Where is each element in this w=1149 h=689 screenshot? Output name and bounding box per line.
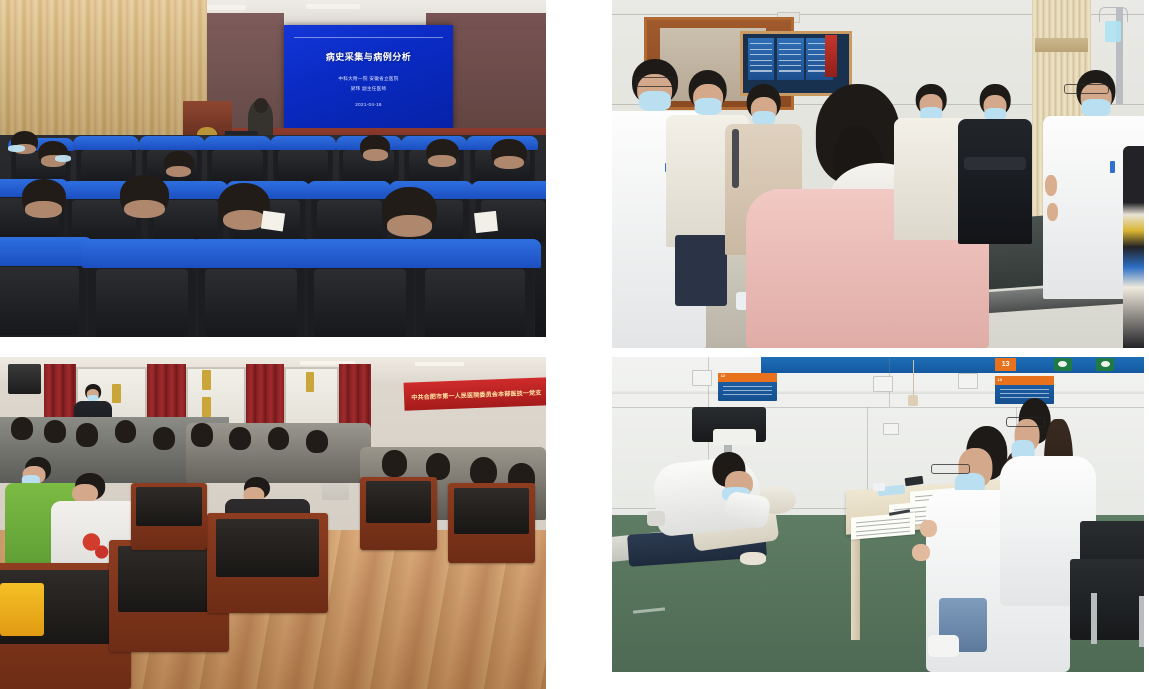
photo-ward-teaching[interactable]: [612, 0, 1144, 348]
attendee-head: [426, 139, 459, 165]
attendee-head: [268, 427, 290, 450]
attendee-head: [191, 423, 213, 446]
banner-text: 中共合肥市第一人民医院委员会本部医技一党支: [411, 387, 541, 401]
attendee-head: [22, 179, 66, 215]
auditorium-scene: 中共合肥市第一人民医院委员会本部医技一党支: [0, 357, 546, 689]
red-banner[interactable]: 中共合肥市第一人民医院委员会本部医技一党支: [404, 377, 546, 411]
photo-collage-sheet: 病史采集与病例分析 中科大附一院 安徽省立医院 梁玮 副主任医师 2021-04…: [0, 0, 1149, 689]
bed-head-sign: 12: [718, 373, 777, 401]
manikin-hand: [740, 552, 767, 565]
attendee-head: [153, 427, 175, 450]
slide-subtitle-institution: 中科大附一院 安徽省立医院: [284, 76, 453, 82]
wooden-desk-chair: [360, 477, 436, 550]
attendee-mask: [55, 155, 71, 162]
auditorium-seat: [76, 139, 136, 186]
dark-trousers: [675, 235, 727, 306]
red-notice-strip: [825, 35, 837, 77]
slide-rule-line: [294, 37, 443, 38]
folded-arms: [964, 157, 1025, 170]
staff-badge: [1110, 161, 1115, 173]
sign-number: 12: [721, 373, 725, 378]
attendee-paper: [474, 211, 498, 233]
eyeglasses-icon: [636, 77, 675, 87]
attendee-head: [115, 420, 137, 443]
attendee-head: [229, 427, 251, 450]
audience-area: [0, 135, 546, 337]
resuscitation-supplies: [713, 429, 756, 445]
eyeglasses-icon: [1006, 417, 1045, 427]
attendee-head: [470, 457, 497, 487]
attendee-head: [382, 187, 437, 234]
lecture-hall-scene: 病史采集与病例分析 中科大附一院 安徽省立医院 梁玮 副主任医师 2021-04…: [0, 0, 546, 337]
backpack-strap: [732, 129, 739, 188]
attendee-head: [44, 420, 66, 443]
window-latch: [112, 384, 121, 404]
slide-title: 病史采集与病例分析: [284, 50, 453, 63]
bay-number-13: 13: [995, 358, 1016, 372]
person-rescuer-performing-cpr: [655, 452, 783, 540]
information-board: [777, 38, 804, 80]
sign-number: 13: [997, 377, 1001, 382]
attendee-head: [306, 430, 328, 453]
auditorium-seat: [306, 246, 415, 337]
auditorium-seat: [0, 244, 87, 337]
chair-leg: [1139, 596, 1144, 646]
light-switch[interactable]: [873, 376, 893, 392]
slide-subtitle-presenter: 梁玮 副主任医师: [284, 86, 453, 92]
attendee-head: [426, 453, 451, 480]
rescuer-shoe: [647, 511, 665, 525]
window-latch: [202, 370, 211, 390]
attendee-head: [120, 175, 169, 215]
cord-pull-handle: [908, 395, 919, 406]
wooden-desk-chair: [131, 483, 207, 549]
ward-scene: [612, 0, 1144, 348]
writing-hand: [920, 520, 937, 537]
wooden-desk-chair: [448, 483, 535, 563]
hanging-cord: [913, 360, 914, 398]
wall-speaker: [8, 364, 41, 394]
waiting-chair: [1070, 559, 1144, 641]
eyeglasses-icon: [931, 464, 970, 474]
water-cup: [873, 483, 886, 491]
yellow-bag: [0, 583, 44, 636]
attendee-head: [360, 135, 390, 159]
gesturing-hand: [1047, 203, 1058, 221]
projector-screen: 病史采集与病例分析 中科大附一院 安徽省立医院 梁玮 副主任医师 2021-04…: [284, 25, 453, 129]
chair-leg: [1091, 593, 1097, 643]
wall-outlet-icon: [1054, 358, 1072, 371]
window-latch: [306, 372, 315, 392]
wall-panel-outlet[interactable]: [883, 423, 899, 435]
window-latch: [202, 397, 211, 417]
person-black-jacket: [963, 84, 1027, 244]
cpr-room-scene: 13 12 13: [612, 357, 1144, 672]
ceiling-light: [306, 4, 361, 9]
light-switch[interactable]: [958, 373, 978, 389]
attendee-head: [164, 151, 194, 175]
auditorium-seat: [87, 246, 196, 337]
person-pale-coat: [899, 84, 963, 241]
ceiling-light: [415, 362, 464, 366]
person-striped-sweater-partial: [1123, 146, 1144, 348]
attendee-head: [11, 417, 33, 440]
sneaker: [928, 635, 958, 657]
iv-hook: [1099, 7, 1128, 22]
curtain-tie-band: [1035, 38, 1088, 52]
information-board: [748, 38, 775, 80]
attendee-head: [491, 139, 526, 167]
auditorium-seat: [415, 246, 535, 337]
photo-lecture-hall[interactable]: 病史采集与病例分析 中科大附一院 安徽省立医院 梁玮 副主任医师 2021-04…: [0, 0, 546, 337]
wooden-desk-chair: [207, 513, 327, 613]
auditorium-seat: [207, 139, 267, 186]
attendee-paper: [261, 210, 285, 231]
light-switch[interactable]: [692, 370, 712, 386]
auditorium-seat: [197, 246, 306, 337]
photo-auditorium[interactable]: 中共合肥市第一人民医院委员会本部医技一党支: [0, 357, 546, 689]
auditorium-seat: [273, 139, 333, 186]
presenter-head: [254, 98, 268, 113]
auditorium-seat: [311, 185, 387, 246]
iv-bag: [1105, 21, 1121, 42]
attendee-head: [76, 423, 98, 446]
eyeglasses-icon: [1064, 84, 1109, 94]
photo-cpr-practice[interactable]: 13 12 13: [612, 357, 1144, 672]
attendee-head: [382, 450, 407, 477]
upper-blue-band: [761, 357, 1144, 373]
slide-date: 2021-04-16: [284, 102, 453, 107]
gesturing-hand: [1045, 175, 1057, 196]
attendee-mask: [8, 145, 24, 152]
resting-hand: [912, 544, 930, 561]
wall-outlet-icon: [1096, 358, 1114, 371]
